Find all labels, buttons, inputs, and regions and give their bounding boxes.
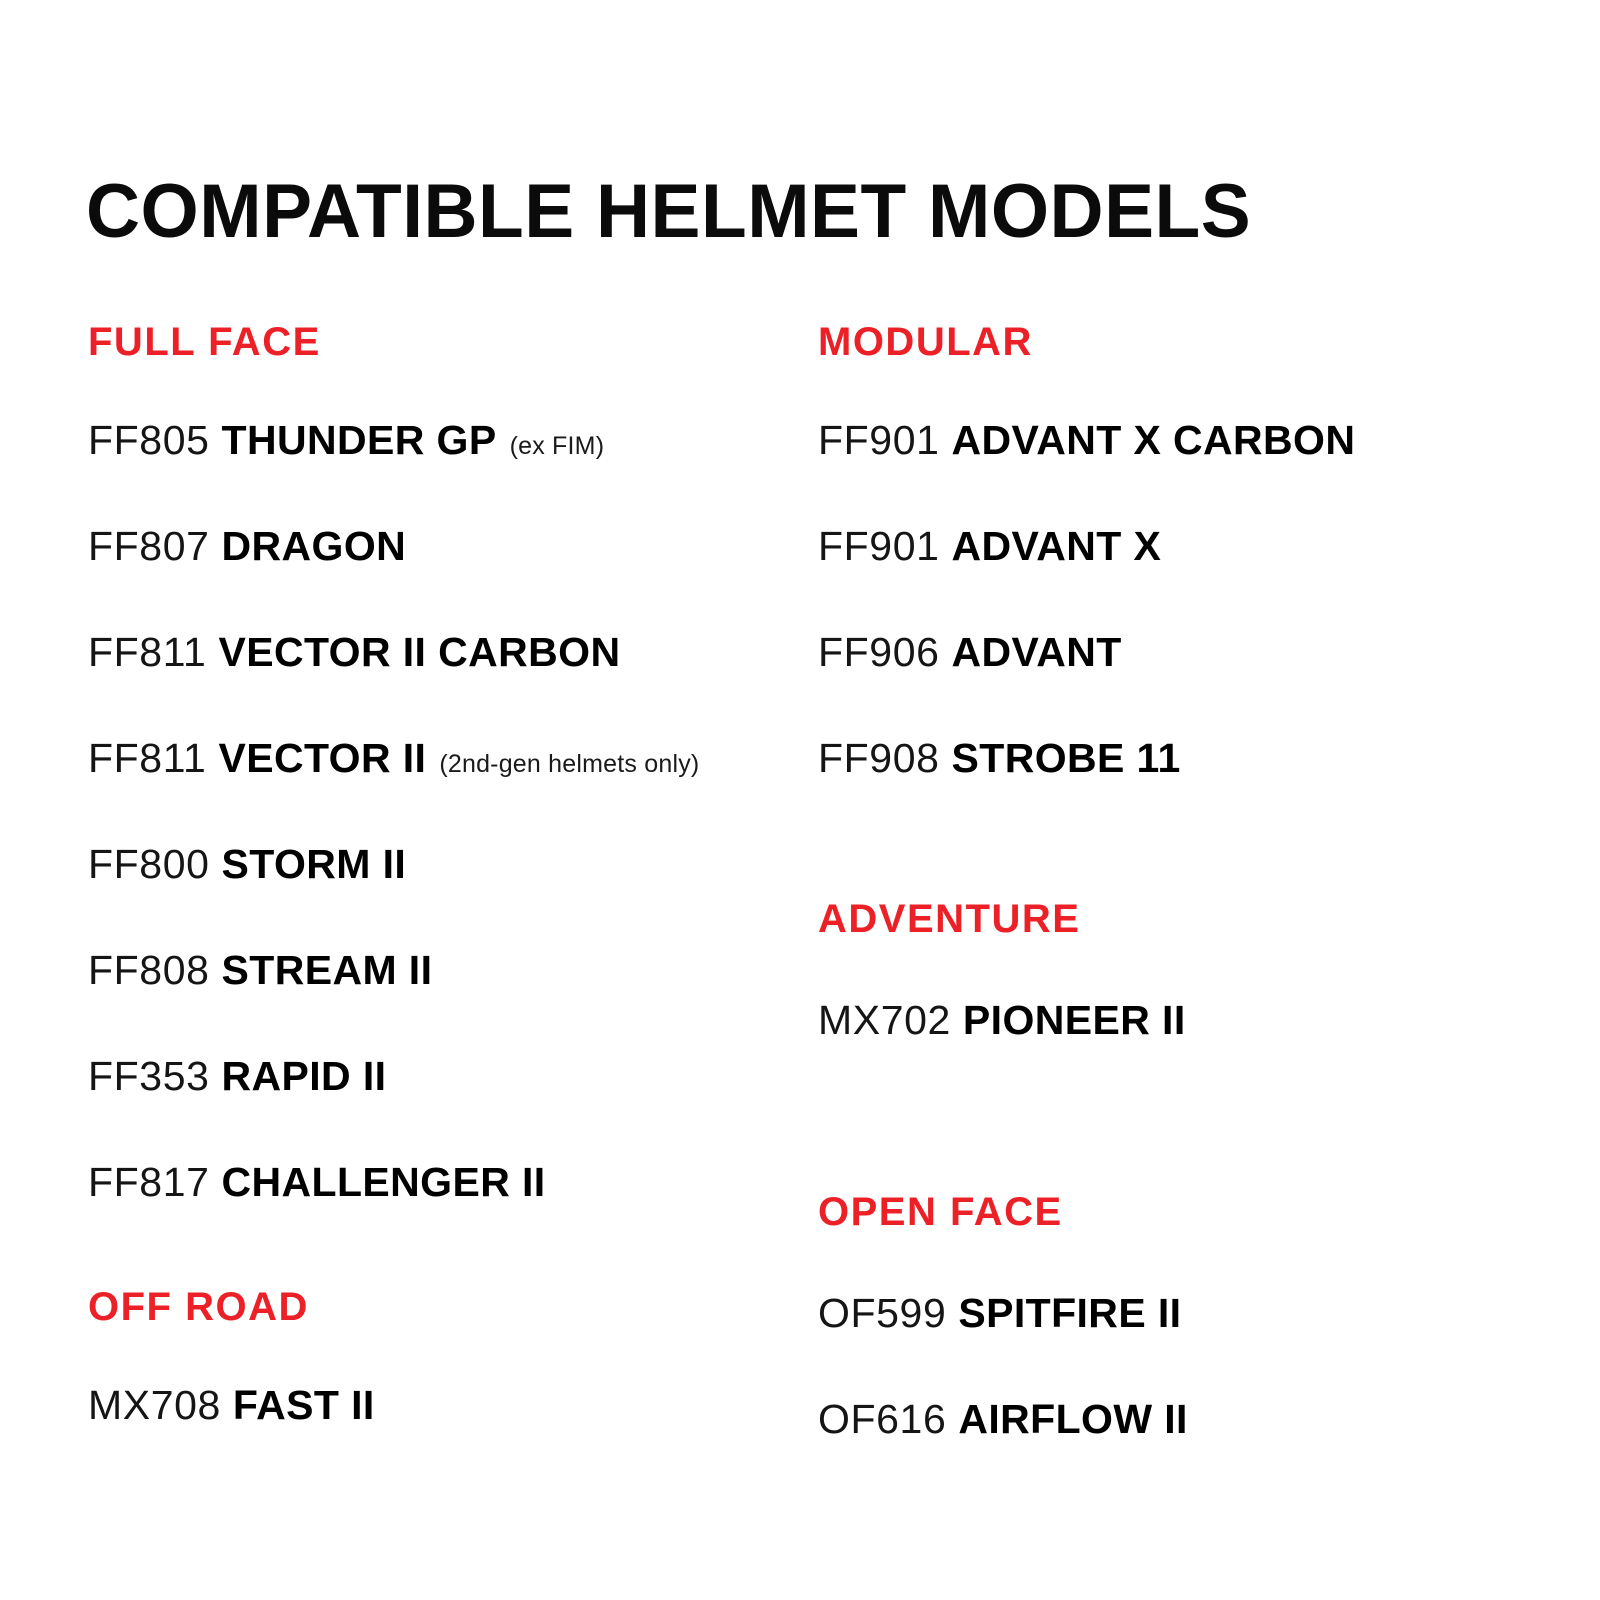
model-row: MX702PIONEER II: [818, 992, 1186, 1058]
model-name: PIONEER II: [963, 997, 1186, 1043]
model-code: FF908: [818, 735, 940, 781]
model-row: FF808STREAM II: [88, 942, 699, 1008]
model-code: FF811: [88, 735, 206, 781]
model-code: MX708: [88, 1382, 221, 1428]
section-heading-open-face: OPEN FACE: [818, 1190, 1063, 1234]
model-name: STROBE 11: [952, 735, 1181, 781]
model-name: VECTOR II: [218, 735, 426, 781]
model-name: DRAGON: [222, 523, 407, 569]
model-code: FF811: [88, 629, 206, 675]
model-name: RAPID II: [222, 1053, 387, 1099]
model-row: FF817CHALLENGER II: [88, 1154, 699, 1220]
model-note: (ex FIM): [510, 432, 605, 460]
model-code: FF901: [818, 417, 940, 463]
model-name: ADVANT X CARBON: [952, 417, 1356, 463]
model-code: FF800: [88, 841, 210, 887]
model-code: FF906: [818, 629, 940, 675]
model-name: SPITFIRE II: [958, 1290, 1181, 1336]
model-row: OF616AIRFLOW II: [818, 1391, 1188, 1457]
model-name: CHALLENGER II: [222, 1159, 546, 1205]
section-heading-off-road: OFF ROAD: [88, 1285, 309, 1329]
model-row: OF599SPITFIRE II: [818, 1285, 1188, 1351]
model-list-modular: FF901ADVANT X CARBON FF901ADVANT X FF906…: [818, 412, 1355, 796]
model-name: FAST II: [233, 1382, 375, 1428]
model-name: ADVANT: [952, 629, 1122, 675]
model-row: FF908STROBE 11: [818, 730, 1355, 796]
model-code: FF807: [88, 523, 210, 569]
model-code: FF353: [88, 1053, 210, 1099]
section-heading-adventure: ADVENTURE: [818, 897, 1080, 941]
model-row: FF807DRAGON: [88, 518, 699, 584]
model-row: FF811VECTOR II(2nd-gen helmets only): [88, 730, 699, 796]
model-name: STORM II: [222, 841, 407, 887]
model-code: FF808: [88, 947, 210, 993]
model-row: FF811VECTOR II CARBON: [88, 624, 699, 690]
model-name: THUNDER GP: [222, 417, 497, 463]
model-name: AIRFLOW II: [958, 1396, 1187, 1442]
model-row: MX708FAST II: [88, 1377, 375, 1443]
model-list-off-road: MX708FAST II: [88, 1377, 375, 1443]
model-row: FF800STORM II: [88, 836, 699, 902]
model-code: FF805: [88, 417, 210, 463]
model-row: FF901ADVANT X: [818, 518, 1355, 584]
model-row: FF353RAPID II: [88, 1048, 699, 1114]
model-code: FF901: [818, 523, 940, 569]
model-note: (2nd-gen helmets only): [439, 750, 699, 778]
page-title: COMPATIBLE HELMET MODELS: [86, 169, 1251, 255]
model-code: MX702: [818, 997, 951, 1043]
model-code: OF616: [818, 1396, 946, 1442]
model-row: FF805THUNDER GP(ex FIM): [88, 412, 699, 478]
model-list-adventure: MX702PIONEER II: [818, 992, 1186, 1058]
compatibility-list-page: COMPATIBLE HELMET MODELS FULL FACE FF805…: [0, 0, 1600, 1600]
model-name: STREAM II: [222, 947, 433, 993]
model-row: FF906ADVANT: [818, 624, 1355, 690]
section-heading-modular: MODULAR: [818, 320, 1033, 364]
model-name: ADVANT X: [952, 523, 1162, 569]
model-list-full-face: FF805THUNDER GP(ex FIM) FF807DRAGON FF81…: [88, 412, 699, 1220]
model-name: VECTOR II CARBON: [218, 629, 620, 675]
model-code: OF599: [818, 1290, 946, 1336]
model-row: FF901ADVANT X CARBON: [818, 412, 1355, 478]
section-heading-full-face: FULL FACE: [88, 320, 321, 364]
model-code: FF817: [88, 1159, 210, 1205]
model-list-open-face: OF599SPITFIRE II OF616AIRFLOW II: [818, 1285, 1188, 1457]
